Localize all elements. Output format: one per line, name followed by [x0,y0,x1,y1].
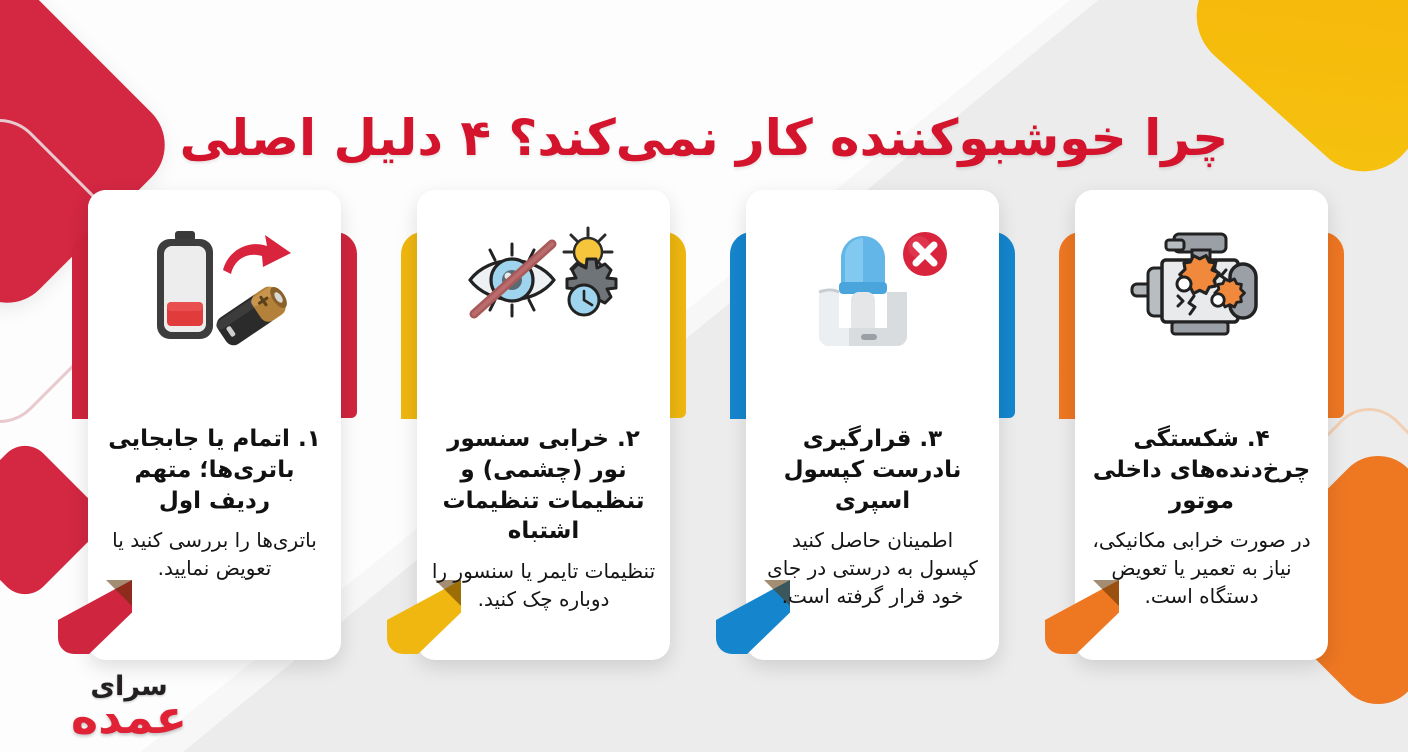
card-2-text: ۲. خرابی سنسور نور (چشمی) و تنظیمات تنظی… [417,390,670,613]
card-3-text: ۳. قرارگیری نادرست کپسول اسپری اطمینان ح… [746,390,999,610]
card-1-folded-corner [58,580,132,654]
eye-sensor-disabled-icon [460,218,628,358]
infographic-canvas: چرا خوشبوکننده کار نمی‌کند؟ ۴ دلیل اصلی [0,0,1408,752]
card-4-text: ۴. شکستگی چرخ‌دنده‌های داخلی موتور در صو… [1075,390,1328,610]
brand-logo[interactable]: سرای عمده [34,673,224,740]
page-title: چرا خوشبوکننده کار نمی‌کند؟ ۴ دلیل اصلی [150,106,1258,170]
spray-capsule-error-icon [789,218,957,358]
reason-card-3[interactable]: ۳. قرارگیری نادرست کپسول اسپری اطمینان ح… [730,190,1015,660]
card-1-heading: ۱. اتمام یا جابجایی باتری‌ها؛ متهم ردیف … [102,424,327,516]
reason-card-list: ۱. اتمام یا جابجایی باتری‌ها؛ متهم ردیف … [72,190,1344,660]
card-2-icon-panel [417,190,670,386]
card-1-icon-panel [88,190,341,386]
reason-card-2[interactable]: ۲. خرابی سنسور نور (چشمی) و تنظیمات تنظی… [401,190,686,660]
card-1-text: ۱. اتمام یا جابجایی باتری‌ها؛ متهم ردیف … [88,390,341,582]
card-1-body: باتری‌ها را بررسی کنید یا تعویض نمایید. [102,526,327,582]
card-4-body: در صورت خرابی مکانیکی، نیاز به تعمیر یا … [1089,526,1314,610]
card-3-icon-panel [746,190,999,386]
broken-motor-gears-icon [1118,218,1286,358]
card-4-icon-panel [1075,190,1328,386]
low-battery-replace-icon [131,218,299,358]
card-3-body: اطمینان حاصل کنید کپسول به درستی در جای … [760,526,985,610]
reason-card-1[interactable]: ۱. اتمام یا جابجایی باتری‌ها؛ متهم ردیف … [72,190,357,660]
reason-card-4[interactable]: ۴. شکستگی چرخ‌دنده‌های داخلی موتور در صو… [1059,190,1344,660]
card-4-heading: ۴. شکستگی چرخ‌دنده‌های داخلی موتور [1089,424,1314,516]
card-2-body: تنظیمات تایمر یا سنسور را دوباره چک کنید… [431,557,656,613]
brand-logo-bottom-word: عمده [34,694,224,740]
card-2-heading: ۲. خرابی سنسور نور (چشمی) و تنظیمات تنظی… [431,424,656,547]
card-3-heading: ۳. قرارگیری نادرست کپسول اسپری [760,424,985,516]
